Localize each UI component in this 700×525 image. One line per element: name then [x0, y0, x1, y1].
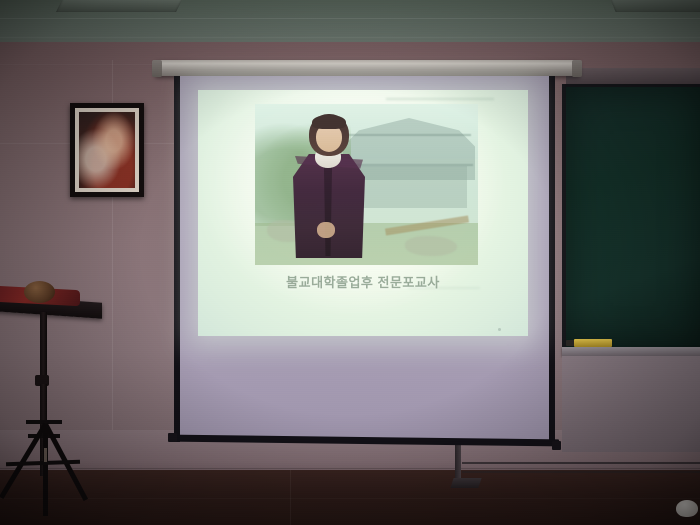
- screen-edge-right: [549, 76, 555, 442]
- yellow-eraser[interactable]: [574, 339, 612, 347]
- portrait-mat: [75, 108, 139, 192]
- screen-roller-end-left: [152, 60, 162, 77]
- chalk-tray: [562, 347, 700, 356]
- wall-rail: [462, 462, 700, 464]
- floor-seam: [0, 498, 700, 499]
- ceiling-vent-left: [56, 0, 184, 12]
- stand-upright-post: [40, 312, 47, 380]
- classroom-scene: 불교대학졸업후 전문포교사: [0, 0, 700, 525]
- photo-roof-ridge: [347, 134, 471, 136]
- projected-slide: 불교대학졸업후 전문포교사: [198, 90, 528, 336]
- rail-base: [450, 478, 481, 488]
- projection-streak: [386, 98, 494, 100]
- photo-woman-hands: [317, 222, 335, 238]
- ceiling-panel-seam: [0, 18, 700, 19]
- framed-portrait: [70, 103, 144, 197]
- photo-woman-fringe: [312, 115, 346, 129]
- stand-leg-center: [43, 424, 48, 516]
- chalkboard-surface[interactable]: [566, 87, 700, 350]
- screen-roller-housing[interactable]: [155, 60, 580, 76]
- ceiling-panel-seam: [0, 37, 700, 38]
- photo-temple-body: [355, 166, 467, 208]
- wall-seam-horizontal: [0, 64, 175, 65]
- slide-caption: 불교대학졸업후 전문포교사: [198, 272, 528, 291]
- wall-rail-lower: [462, 471, 700, 473]
- screen-bar-tip-right: [552, 441, 561, 450]
- stand-wooden-bowl: [24, 281, 55, 303]
- slide-photograph: [255, 104, 478, 265]
- screen-roller-end-right: [572, 60, 582, 77]
- photo-roof-eave: [345, 164, 473, 166]
- chalkboard-frame: [562, 84, 700, 350]
- photo-rock: [405, 236, 457, 256]
- wall-baseboard-line: [0, 468, 700, 469]
- screen-bar-tip-left: [168, 433, 177, 442]
- stand-leg-marker: [44, 448, 47, 462]
- projection-speck: [498, 328, 501, 331]
- wall-below-chalkboard: [562, 356, 700, 452]
- ceiling-vent-right: [608, 0, 700, 12]
- portrait-artwork: [79, 112, 135, 188]
- white-floor-object: [676, 500, 698, 517]
